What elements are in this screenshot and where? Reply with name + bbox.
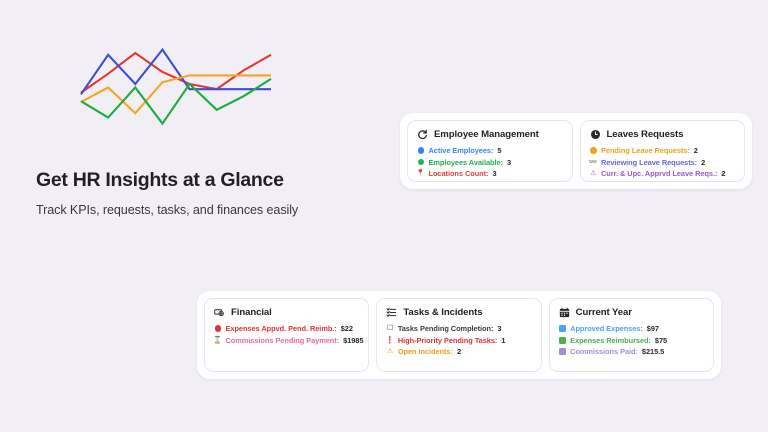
kpi-row-label: Departments Count: (429, 181, 499, 183)
card-header: Employee Management (417, 129, 563, 140)
hero-text-block: Get HR Insights at a Glance Track KPIs, … (36, 168, 456, 217)
kpi-card-group-top: Employee ManagementActive Employees:5Emp… (400, 113, 752, 189)
folder-icon: 🗀 (417, 181, 425, 182)
kpi-row-label: Commissions Pending Payment: (226, 336, 340, 345)
kpi-row-value: 5 (497, 146, 501, 155)
kpi-row: Approved Expenses:$97 (559, 324, 704, 333)
card-title: Financial (231, 307, 272, 318)
kpi-row-value: 3 (497, 324, 501, 333)
card-title: Tasks & Incidents (403, 307, 482, 318)
calendar-check-icon: ⚠ (590, 170, 598, 178)
kpi-row-value: 3 (507, 158, 511, 167)
card-header: Leaves Requests (590, 129, 736, 140)
kpi-row-value: $215.5 (642, 347, 664, 356)
kpi-row: ❗High-Priority Pending Tasks:1 (386, 336, 531, 345)
kpi-row-label: Open Incidents: (398, 347, 453, 356)
task-list-icon (386, 307, 397, 318)
kpi-card[interactable]: Tasks & Incidents☐Tasks Pending Completi… (376, 298, 541, 372)
kpi-row-label: Pending Leave Requests: (601, 146, 690, 155)
card-header: Financial (214, 307, 359, 318)
chart-line-green (81, 79, 271, 124)
kpi-row-label: Expenses Reimbursed: (570, 336, 651, 345)
kpi-row-value: $97 (647, 324, 659, 333)
kpi-card[interactable]: FinancialExpenses Appvd. Pend. Reimb.:$2… (204, 298, 369, 372)
kpi-row-value: $22 (341, 324, 353, 333)
kpi-row-value: 2 (701, 158, 705, 167)
hourglass-icon: ⌛ (214, 336, 222, 344)
page-subtitle: Track KPIs, requests, tasks, and finance… (36, 203, 456, 217)
hero-line-chart (78, 38, 274, 130)
kpi-row-label: Curr. & Upc. Apprvd Leave Reqs.: (601, 169, 717, 178)
money-bill-icon (214, 307, 225, 318)
kpi-row-label: Active Employees: (429, 146, 494, 155)
kpi-card[interactable]: Employee ManagementActive Employees:5Emp… (407, 120, 573, 182)
blue-dot-icon (417, 147, 425, 155)
kpi-row: ⚠Curr. & Upc. Apprvd Leave Reqs.:2 (590, 169, 736, 178)
kpi-row-label: Reviewing Leave Requests: (601, 158, 697, 167)
calendar-icon (559, 307, 570, 318)
kpi-row: ☐Tasks Pending Completion:3 (386, 324, 531, 333)
card-title: Leaves Requests (607, 129, 684, 140)
red-dot-icon (214, 325, 222, 333)
kpi-row: Expenses Appvd. Pend. Reimb.:$22 (214, 324, 359, 333)
green-square-icon (559, 336, 567, 344)
blue-square-icon (559, 325, 567, 333)
kpi-row-value: 1 (501, 336, 505, 345)
kpi-row-label: Expenses Appvd. Pend. Reimb.: (226, 324, 337, 333)
kpi-row: Employees Available:3 (417, 158, 563, 167)
kpi-row: Active Employees:5 (417, 146, 563, 155)
kpi-row: ⌛Commissions Pending Payment:$1985 (214, 336, 359, 345)
warning-triangle-icon: ⚠ (386, 348, 394, 356)
orange-dot-icon (590, 147, 598, 155)
purple-square-icon (559, 348, 567, 356)
kpi-row-label: Commissions Paid: (570, 347, 638, 356)
card-title: Employee Management (434, 129, 539, 140)
kpi-row-value: 3 (492, 169, 496, 178)
kpi-row: 📍Locations Count:3 (417, 169, 563, 178)
kpi-row: Commissions Paid:$215.5 (559, 347, 704, 356)
refresh-circle-icon (417, 129, 428, 140)
kpi-row-value: $1985 (343, 336, 363, 345)
green-dot-icon (417, 158, 425, 166)
kpi-card[interactable]: Leaves RequestsPending Leave Requests:2👓… (580, 120, 746, 182)
kpi-row-label: Approved Expenses: (570, 324, 643, 333)
kpi-row-label: Employees Available: (429, 158, 503, 167)
kpi-row: 👓Reviewing Leave Requests:2 (590, 158, 736, 167)
checkbox-icon: ☐ (386, 325, 394, 333)
kpi-card[interactable]: Current YearApproved Expenses:$97Expense… (549, 298, 714, 372)
kpi-row-value: 2 (457, 347, 461, 356)
kpi-row: ⚠Open Incidents:2 (386, 347, 531, 356)
kpi-row-value: 2 (721, 169, 725, 178)
card-header: Tasks & Incidents (386, 307, 531, 318)
kpi-row-value: 3 (503, 181, 507, 183)
kpi-row: Expenses Reimbursed:$75 (559, 336, 704, 345)
card-title: Current Year (576, 307, 632, 318)
chart-line-red (81, 53, 271, 93)
kpi-card-group-bottom: FinancialExpenses Appvd. Pend. Reimb.:$2… (197, 291, 721, 379)
page-title: Get HR Insights at a Glance (36, 168, 456, 192)
clock-circle-icon (590, 129, 601, 140)
card-header: Current Year (559, 307, 704, 318)
map-pin-icon: 📍 (417, 170, 425, 178)
kpi-row: 🗀Departments Count:3 (417, 181, 563, 183)
kpi-row-value: $75 (655, 336, 667, 345)
kpi-row-label: High-Priority Pending Tasks: (398, 336, 497, 345)
exclamation-mark-icon: ❗ (386, 336, 394, 344)
kpi-row-label: Tasks Pending Completion: (398, 324, 494, 333)
line-chart-svg (78, 38, 274, 130)
chart-line-orange (81, 75, 271, 113)
eyeglasses-icon: 👓 (590, 158, 598, 166)
kpi-row-value: 2 (694, 146, 698, 155)
kpi-row: Pending Leave Requests:2 (590, 146, 736, 155)
kpi-row-label: Locations Count: (429, 169, 489, 178)
